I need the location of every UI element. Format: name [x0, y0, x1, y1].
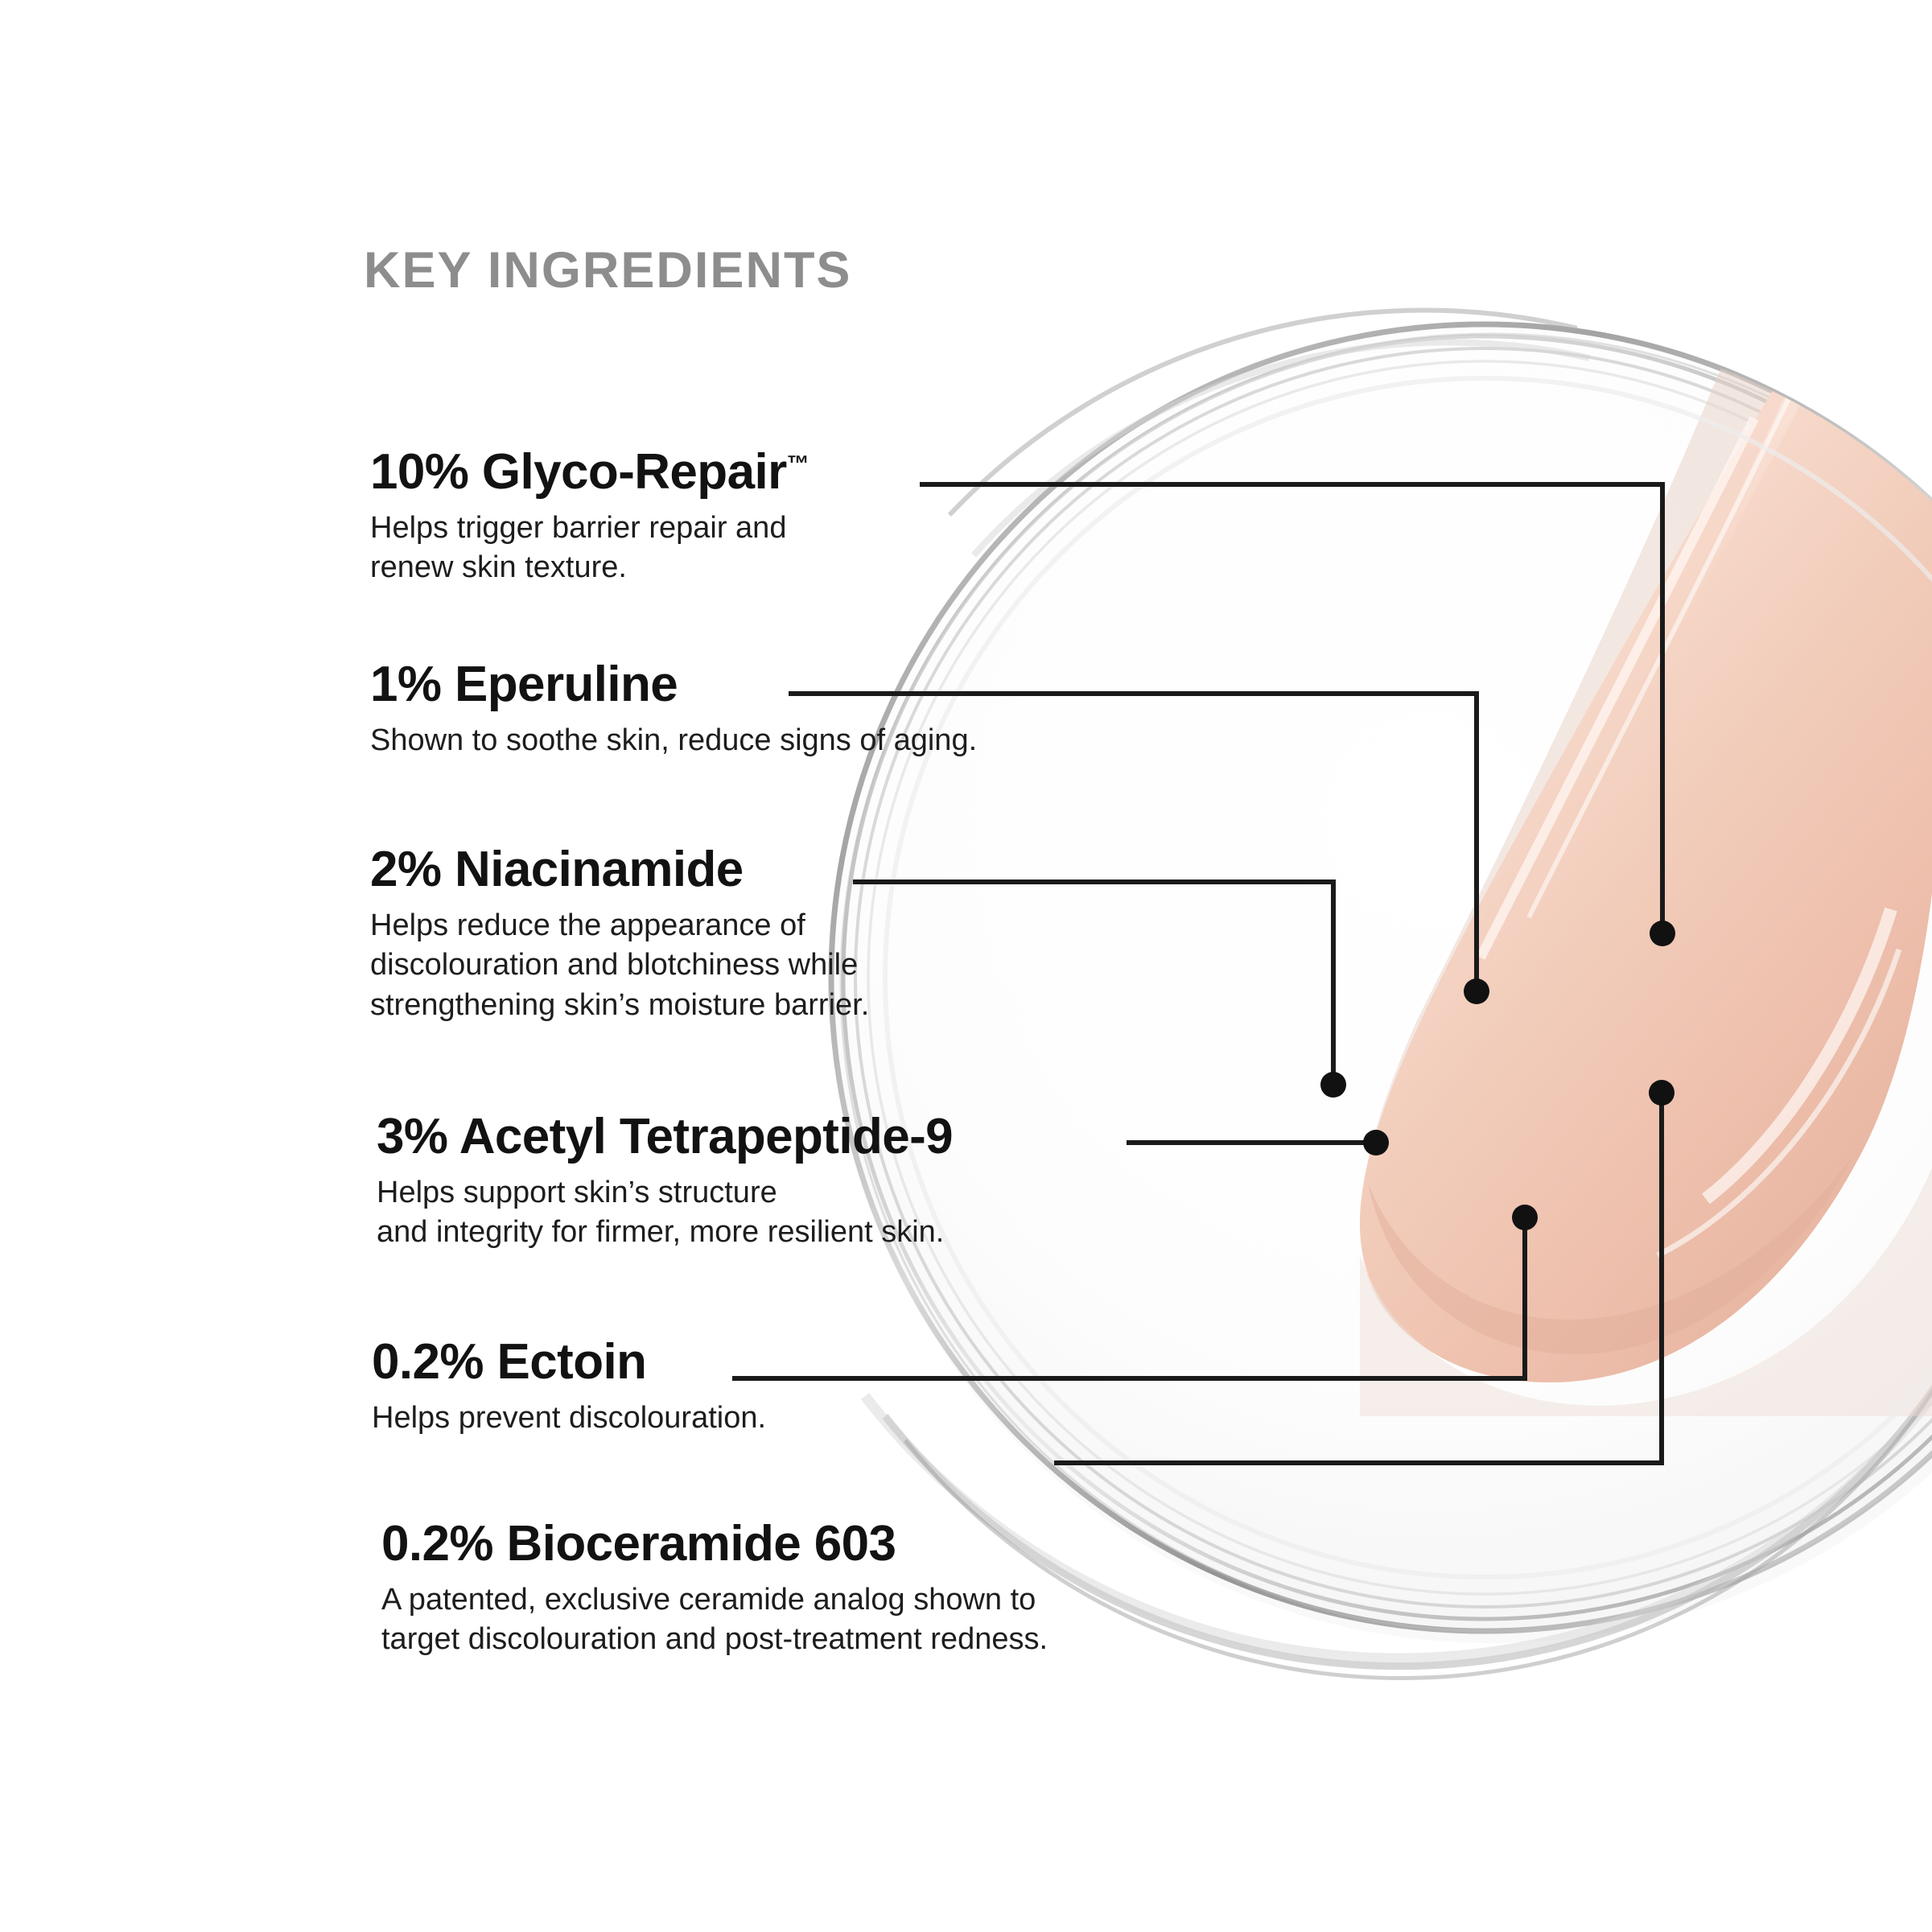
ingredient-name: 2% Niacinamide: [370, 845, 869, 895]
ingredient-name: 10% Glyco-Repair™: [370, 447, 809, 497]
leader-dot: [1363, 1130, 1389, 1155]
trademark-symbol: ™: [787, 451, 809, 476]
ingredient-item-glyco-repair: 10% Glyco-Repair™ Helps trigger barrier …: [370, 447, 809, 588]
ingredient-item-niacinamide: 2% Niacinamide Helps reduce the appearan…: [370, 845, 869, 1025]
ingredient-item-eperuline: 1% Eperuline Shown to soothe skin, reduc…: [370, 660, 977, 760]
ingredient-description: Helps support skin’s structure and integ…: [377, 1173, 953, 1253]
key-ingredients-panel: KEY INGREDIENTS 10% Glyco-Repair™ Helps …: [0, 0, 1932, 1932]
leader-dot: [1512, 1205, 1538, 1230]
leader-dot: [1464, 978, 1489, 1004]
ingredient-name: 0.2% Ectoin: [372, 1337, 766, 1387]
ingredient-description: Helps trigger barrier repair and renew s…: [370, 509, 809, 588]
page-title: KEY INGREDIENTS: [364, 241, 851, 299]
leader-dot: [1650, 921, 1675, 946]
ingredient-item-acetyl-tetrapeptide-9: 3% Acetyl Tetrapeptide-9 Helps support s…: [377, 1112, 953, 1253]
ingredient-name: 0.2% Bioceramide 603: [381, 1519, 1048, 1569]
ingredient-name: 3% Acetyl Tetrapeptide-9: [377, 1112, 953, 1162]
ingredient-name: 1% Eperuline: [370, 660, 977, 710]
ingredient-description: Helps reduce the appearance of discolour…: [370, 906, 869, 1025]
leader-dot: [1320, 1072, 1346, 1098]
ingredient-description: A patented, exclusive ceramide analog sh…: [381, 1580, 1048, 1660]
ingredient-description: Helps prevent discolouration.: [372, 1399, 766, 1438]
leader-dot: [1649, 1080, 1675, 1106]
ingredient-item-bioceramide-603: 0.2% Bioceramide 603 A patented, exclusi…: [381, 1519, 1048, 1660]
ingredient-item-ectoin: 0.2% Ectoin Helps prevent discolouration…: [372, 1337, 766, 1438]
ingredient-description: Shown to soothe skin, reduce signs of ag…: [370, 721, 977, 760]
